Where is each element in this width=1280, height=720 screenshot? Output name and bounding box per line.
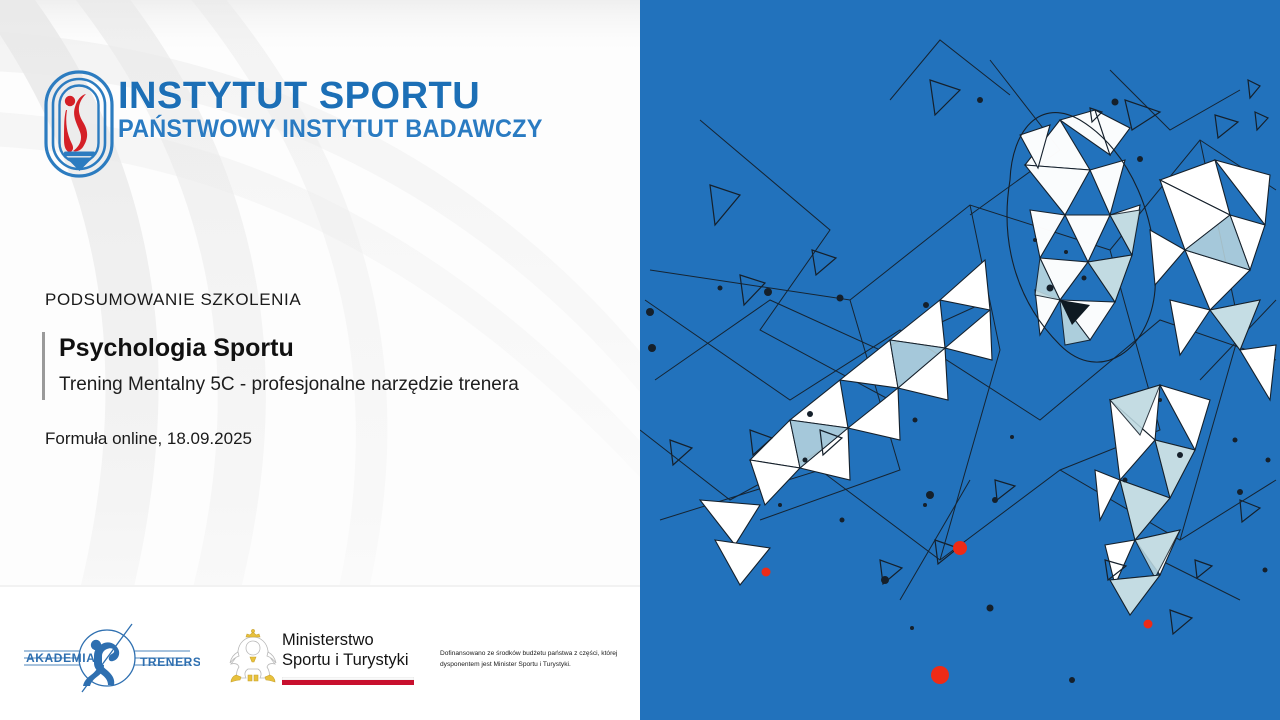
left-content-panel: INSTYTUT SPORTU PAŃSTWOWY INSTYTUT BADAW… [0,0,640,720]
artwork-background [640,0,1280,720]
presentation-slide: INSTYTUT SPORTU PAŃSTWOWY INSTYTUT BADAW… [0,0,1280,720]
ministry-line-1: Ministerstwo [282,630,422,650]
polish-flag-rule [282,677,414,685]
page-subtitle: Trening Mentalny 5C - profesjonalne narz… [59,370,519,400]
artwork-panel [640,0,1280,720]
logo-line-1: INSTYTUT SPORTU [118,76,478,116]
akademia-word: AKADEMIA [26,651,95,665]
instytut-sportu-logo: INSTYTUT SPORTU PAŃSTWOWY INSTYTUT BADAW… [42,68,472,180]
polish-eagle-icon [226,628,280,690]
ministry-logo: Ministerstwo Sportu i Turystyki [226,626,418,698]
page-title: Psychologia Sportu [59,332,519,364]
trenerska-word: TRENERSKA [140,655,200,669]
title-group: Psychologia Sportu Trening Mentalny 5C -… [42,332,519,400]
ministry-wordmark: Ministerstwo Sportu i Turystyki [282,630,422,670]
instytut-sportu-emblem-icon [42,68,116,180]
funding-note: Dofinansowano ze środków budżetu państwa… [440,649,630,670]
event-meta: Formuła online, 18.09.2025 [45,429,252,449]
akademia-trenerska-logo: AKADEMIA TRENERSKA [14,618,200,696]
eyebrow-label: PODSUMOWANIE SZKOLENIA [45,290,301,310]
logo-line-2: PAŃSTWOWY INSTYTUT BADAWCZY [118,116,456,143]
low-poly-athlete-artwork [640,0,1280,720]
instytut-sportu-wordmark: INSTYTUT SPORTU PAŃSTWOWY INSTYTUT BADAW… [118,76,478,143]
ministry-line-2: Sportu i Turystyki [282,650,422,670]
